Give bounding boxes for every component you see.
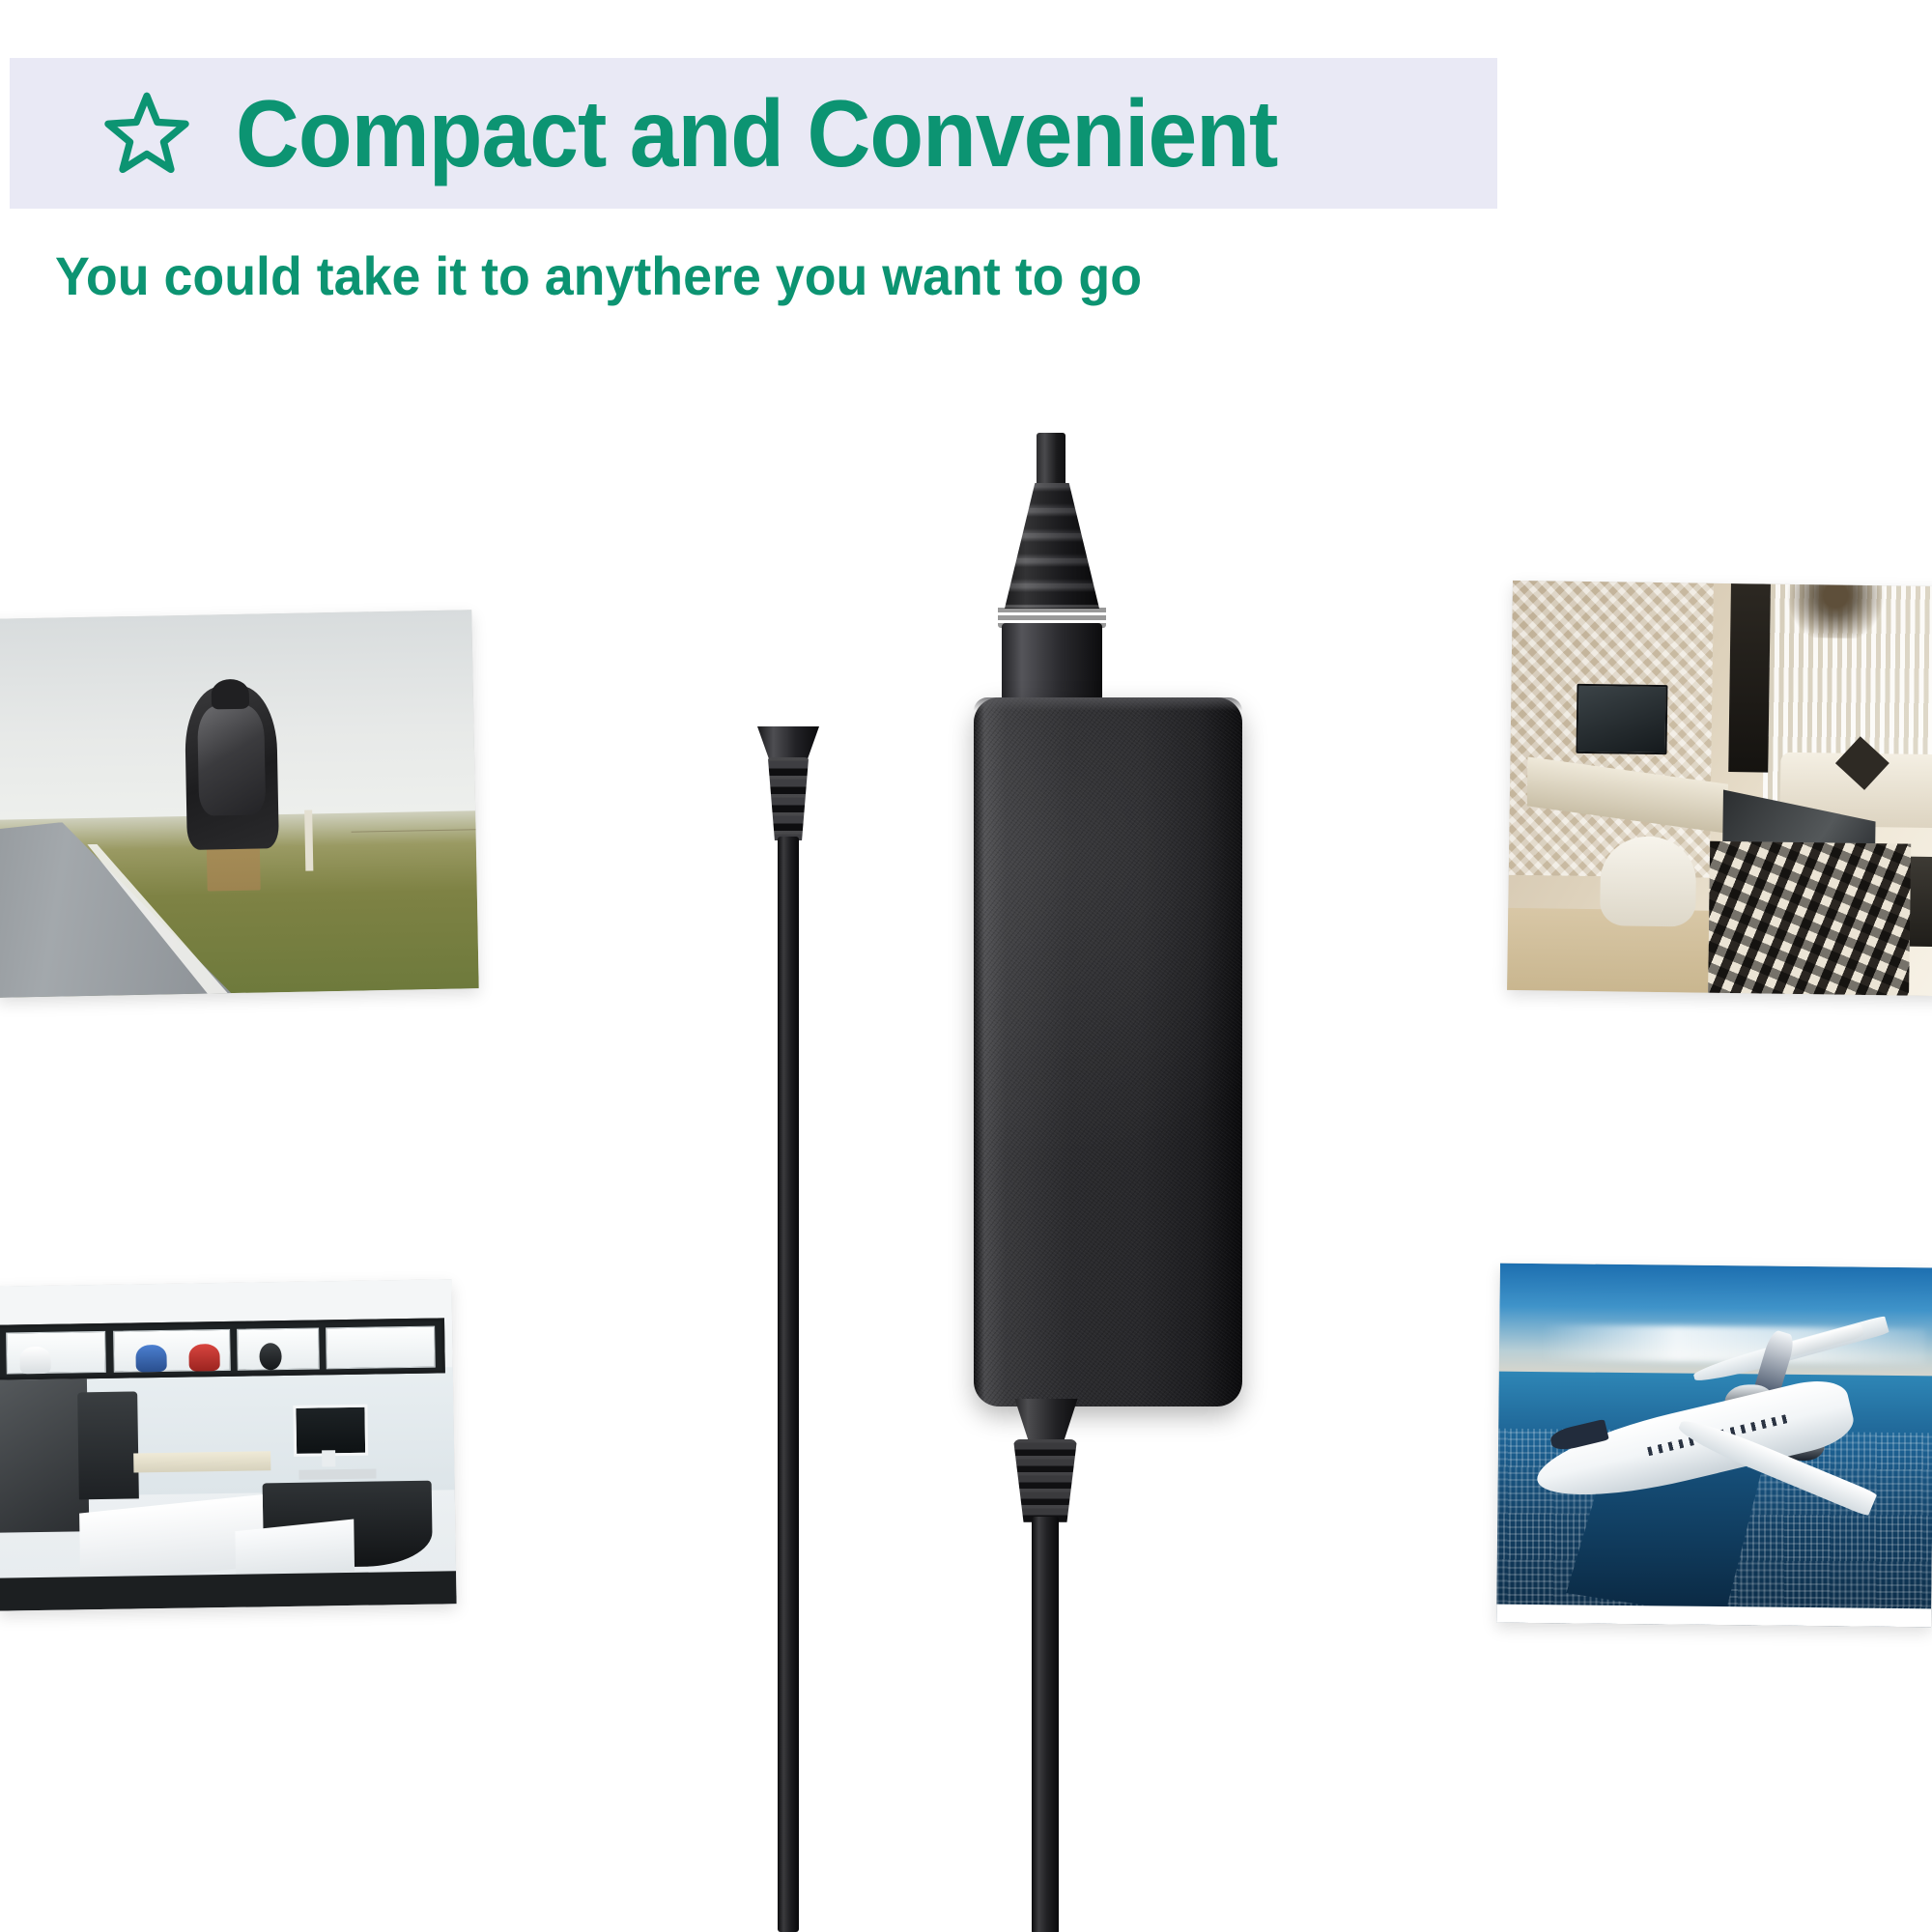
roadside-post: [304, 810, 313, 870]
photo-office-content: [0, 1279, 457, 1610]
adapter-brick-body: [974, 697, 1242, 1406]
page-title: Compact and Convenient: [236, 86, 1277, 181]
photo-livingroom-content: [1507, 581, 1932, 996]
bird-figurine-white: [19, 1347, 51, 1374]
dark-partition: [0, 1379, 89, 1533]
brick-top-highlight: [974, 697, 1242, 711]
hiker-backpack: [197, 704, 267, 815]
shelf-slot: [326, 1326, 435, 1369]
computer-monitor: [293, 1404, 368, 1456]
bird-figurine-blue: [135, 1345, 167, 1372]
brick-surface-texture: [974, 697, 1242, 1406]
desk-ornament: [260, 1343, 282, 1370]
office-floor: [0, 1572, 457, 1611]
photo-modern-office: [0, 1279, 457, 1610]
monitor-stand: [322, 1450, 335, 1466]
photo-hiker-content: [0, 610, 479, 997]
page-subtitle: You could take it to anythere you want t…: [55, 249, 1142, 303]
header-banner: Compact and Convenient: [10, 58, 1497, 209]
ac-strain-relief-ribs: [1005, 483, 1099, 609]
photo-hiker-on-road: [0, 610, 479, 997]
dc-strain-relief-ribs: [1013, 1439, 1077, 1522]
wall-shelf: [0, 1319, 445, 1380]
bird-figurine-red: [188, 1344, 220, 1371]
dc-plug-cable: [778, 837, 799, 1932]
dc-barrel-plug-tip: [757, 726, 819, 761]
ac-connector-neck: [1002, 623, 1102, 706]
dc-plug-ribbed-barrel: [767, 757, 810, 840]
star-outline-icon: [102, 89, 191, 178]
dark-drape: [1728, 583, 1770, 773]
keyboard: [298, 1468, 377, 1479]
wall-mounted-tv: [1576, 684, 1667, 754]
photo-luxury-living-room: [1507, 581, 1932, 996]
hiker-hood: [211, 678, 249, 709]
product-feature-image: Compact and Convenient You could take it…: [0, 0, 1932, 1932]
photo-business-jet: [1496, 1264, 1932, 1628]
wood-desk-surface: [133, 1451, 270, 1472]
chandelier: [1782, 581, 1888, 639]
photo-bottom-edge: [1496, 1605, 1931, 1627]
office-chair-left: [77, 1391, 138, 1499]
photo-jet-content: [1496, 1264, 1932, 1628]
dc-output-cable: [1032, 1517, 1059, 1932]
checkered-rug: [1708, 841, 1911, 996]
round-white-chair: [1600, 836, 1697, 927]
